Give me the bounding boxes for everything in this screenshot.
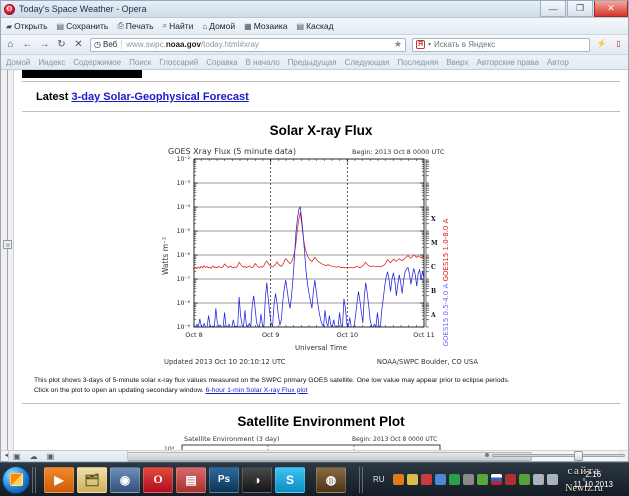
series-long <box>194 212 424 269</box>
tray-chat-icon[interactable] <box>449 474 460 485</box>
divider-under-latest <box>22 111 620 112</box>
navlink-top[interactable]: В начало <box>246 58 280 67</box>
bookmark-star-icon[interactable]: ★ <box>394 39 402 50</box>
panel-divider <box>7 70 8 461</box>
clock-small-icon: ◷ <box>94 40 101 49</box>
tray-folder-icon[interactable] <box>407 474 418 485</box>
chart-begin-label: Begin: 2013 Oct 8 0000 UTC <box>352 148 445 156</box>
toolbar-find[interactable]: ⌕ Найти <box>163 21 194 31</box>
url-domain: noaa.gov <box>166 40 201 49</box>
winamp-icon[interactable]: ◉ <box>110 467 140 493</box>
window-icon[interactable]: ▣ <box>13 452 21 461</box>
y-tick-label-5: 10⁻⁷ <box>177 276 191 283</box>
page-title: Solar X-ray Flux <box>22 123 620 138</box>
window-controls: — ❐ ✕ <box>539 1 628 18</box>
save-icon: ▤ <box>57 22 65 31</box>
stop-icon[interactable]: ✕ <box>73 39 84 50</box>
tray-note-icon[interactable] <box>393 474 404 485</box>
window-title: Today's Space Weather - Opera <box>19 4 147 14</box>
toolbar-cascade[interactable]: ▤ Каскад <box>297 21 334 31</box>
screen: O Today's Space Weather - Opera — ❐ ✕ ▰ … <box>0 0 629 496</box>
url-prefix: www.swpc. <box>126 40 166 49</box>
y-tick-label-1: 10⁻³ <box>177 180 191 187</box>
flare-class-A: A <box>430 312 436 319</box>
forward-icon[interactable]: → <box>39 39 50 50</box>
tray-brush-icon[interactable] <box>421 474 432 485</box>
winamp-glyph: ◉ <box>120 473 130 487</box>
print-icon: ⎙ <box>117 21 123 31</box>
tray-flag-icon[interactable] <box>491 474 502 485</box>
flare-class-M: M <box>431 240 438 247</box>
address-toolbar: ⌂ ← → ↻ ✕ ◷ Веб www.swpc.noaa.gov/today.… <box>1 35 628 55</box>
video-editor-glyph: ◍ <box>326 473 336 487</box>
address-bar[interactable]: ◷ Веб www.swpc.noaa.gov/today.html#xray … <box>90 38 406 52</box>
close-button[interactable]: ✕ <box>594 1 628 17</box>
tray-doc-icon[interactable] <box>505 474 516 485</box>
divider-under-blurb <box>22 403 620 404</box>
tray-volume-icon[interactable] <box>547 474 558 485</box>
main-toolbar: ▰ Открыть ▤ Сохранить ⎙ Печать ⌕ Найти ⌂… <box>1 18 628 35</box>
chart-plot-area: 10⁻²10⁻³10⁻⁴10⁻⁵10⁻⁶10⁻⁷10⁻⁸10⁻⁹Oct 8Oct… <box>177 156 438 339</box>
camera-app-glyph: ◑ <box>253 473 260 487</box>
home-nav-icon[interactable]: ⌂ <box>5 39 16 50</box>
toolbar-save[interactable]: ▤ Сохранить <box>57 21 109 31</box>
panel-icon[interactable]: ▯ <box>613 39 624 50</box>
volume-knob[interactable] <box>574 451 583 461</box>
window-titlebar: O Today's Space Weather - Opera — ❐ ✕ <box>1 1 628 18</box>
page-viewport: Latest 3-day Solar-Geophysical Forecast … <box>1 70 628 461</box>
skype-glyph: S <box>286 473 294 487</box>
top-black-banner-text <box>22 70 142 78</box>
navlink-author[interactable]: Автор <box>547 58 569 67</box>
camera-icon[interactable]: ▣ <box>47 452 55 461</box>
system-tray <box>393 474 558 485</box>
open-icon: ▰ <box>6 22 12 31</box>
x-tick-label-0: Oct 8 <box>185 331 202 339</box>
url-text: www.swpc.noaa.gov/today.html#xray <box>126 40 390 49</box>
chart2-begin-label: Begin: 2013 Oct 8 0000 UTC <box>352 436 437 443</box>
volume-min-dot <box>485 453 489 457</box>
y-tick-label-0: 10⁻² <box>177 156 191 163</box>
taskbar-left <box>0 466 38 494</box>
panel-strip <box>1 70 14 461</box>
cloud-icon[interactable]: ☁ <box>30 452 38 461</box>
navlink-glossary[interactable]: Глоссарий <box>159 58 198 67</box>
tray-monitor-icon[interactable] <box>435 474 446 485</box>
taskbar: ▶ 🗂 ◉ O ▤ Ps ◑ S <box>0 462 629 496</box>
floating-mini-toolbar: ▣ ☁ ▣ <box>8 450 128 462</box>
language-indicator[interactable]: RU <box>368 475 390 484</box>
blurb-line-2: Click on the plot to open an updating se… <box>34 387 204 394</box>
blurb-line-1: This plot shows 3-days of 5-minute solar… <box>34 377 510 384</box>
page-nav-links: Домой Индекс Содержимое Поиск Глоссарий … <box>1 55 628 70</box>
flare-class-B: B <box>431 288 436 295</box>
tray-shield-icon[interactable] <box>519 474 530 485</box>
chevron-down-icon[interactable]: ▾ <box>428 41 431 48</box>
volume-slider[interactable] <box>485 448 625 462</box>
clock-date: 11.10.2013 <box>558 480 629 490</box>
camera-app-icon[interactable]: ◑ <box>242 467 272 493</box>
web-chip-label: Веб <box>103 40 117 49</box>
navlink-search[interactable]: Поиск <box>129 58 151 67</box>
clock[interactable]: 2:16 11.10.2013 <box>558 470 629 490</box>
opera-browser-window: O Today's Space Weather - Opera — ❐ ✕ ▰ … <box>0 0 629 462</box>
toolbar-print-label: Печать <box>126 21 154 31</box>
chart-footer-right: NOAA/SWPC Boulder, CO USA <box>377 358 478 366</box>
navlink-contents[interactable]: Содержимое <box>73 58 121 67</box>
start-button[interactable] <box>2 466 30 494</box>
solar-xray-chart[interactable]: GOES Xray Flux (5 minute data) Begin: 20… <box>22 145 620 370</box>
chart-footer-left: Updated 2013 Oct 10 20:10:12 UTC <box>164 358 286 366</box>
forecast-link[interactable]: 3-day Solar-Geophysical Forecast <box>71 91 248 103</box>
legend-short-channel: GOES15 0.5-4.0 A <box>442 283 450 346</box>
opera-logo-icon: O <box>4 4 15 15</box>
chart-x-axis-label: Universal Time <box>295 344 347 352</box>
skype-icon[interactable]: S <box>275 467 305 493</box>
top-black-banner <box>22 70 142 78</box>
yandex-icon: Я <box>416 40 425 49</box>
tile-icon: ▦ <box>244 22 252 31</box>
page-content: Latest 3-day Solar-Geophysical Forecast … <box>14 70 628 461</box>
navlink-help[interactable]: Справка <box>206 58 237 67</box>
section2-title: Satellite Environment Plot <box>22 414 620 429</box>
navlink-index[interactable]: Индекс <box>38 58 65 67</box>
opera-glyph: O <box>153 472 162 487</box>
x-tick-label-2: Oct 10 <box>337 331 359 339</box>
find-icon: ⌕ <box>163 21 167 31</box>
maximize-button[interactable]: ❐ <box>567 1 593 17</box>
home-icon: ⌂ <box>202 22 207 31</box>
tray-grip[interactable] <box>359 467 365 493</box>
taskbar-grip[interactable] <box>32 467 38 493</box>
turbo-icon[interactable]: ⚡ <box>596 39 607 50</box>
navlink-last[interactable]: Последняя <box>397 58 438 67</box>
toolbar-save-label: Сохранить <box>66 21 108 31</box>
toolbar-open-label: Открыть <box>14 21 47 31</box>
toolbar-cascade-label: Каскад <box>306 21 334 31</box>
save-app-icon[interactable]: ▤ <box>176 467 206 493</box>
flare-class-C: C <box>431 264 436 271</box>
explorer-icon[interactable]: 🗂 <box>77 467 107 493</box>
solar-xray-chart-svg[interactable]: GOES Xray Flux (5 minute data) Begin: 20… <box>156 145 486 370</box>
chart2-header-title: Satellite Environment (3 day) <box>184 435 280 443</box>
chart-y-axis-label: Watts m⁻² <box>161 237 170 275</box>
navlink-next[interactable]: Следующая <box>345 58 390 67</box>
taskbar-items: ▶ 🗂 ◉ O ▤ Ps ◑ S <box>38 467 558 493</box>
url-suffix: /today.html#xray <box>201 40 259 49</box>
navlink-up[interactable]: Вверх <box>446 58 468 67</box>
toolbar-tile-label: Мозаика <box>254 21 288 31</box>
windows-flag-icon <box>10 473 23 486</box>
video-editor-icon[interactable]: ◍ <box>316 467 346 493</box>
search-box[interactable]: Я ▾ Искать в Яндекс <box>412 38 590 52</box>
x-tick-label-3: Oct 11 <box>413 331 435 339</box>
navlink-previous[interactable]: Предыдущая <box>288 58 337 67</box>
chart-description: This plot shows 3-days of 5-minute solar… <box>22 370 620 396</box>
tray-leaf-icon[interactable] <box>477 474 488 485</box>
toolbar-tile[interactable]: ▦ Мозаика <box>244 21 287 31</box>
chart-header-title: GOES Xray Flux (5 minute data) <box>168 147 296 156</box>
chart-frame <box>194 159 424 327</box>
navlink-home[interactable]: Домой <box>6 58 30 67</box>
flare-class-X: X <box>431 216 436 223</box>
toolbar-open[interactable]: ▰ Открыть <box>6 21 48 31</box>
search-input[interactable]: Искать в Яндекс <box>434 40 495 49</box>
tray-globe-icon[interactable] <box>463 474 474 485</box>
back-icon[interactable]: ← <box>22 39 33 50</box>
toolbar-print[interactable]: ⎙ Печать <box>117 21 153 31</box>
toolbar-find-label: Найти <box>169 21 193 31</box>
y-tick-label-2: 10⁻⁴ <box>177 204 191 211</box>
y-tick-label-4: 10⁻⁶ <box>177 252 191 259</box>
toolbar-home-label: Домой <box>209 21 235 31</box>
explorer-glyph: 🗂 <box>84 473 99 487</box>
y-tick-label-3: 10⁻⁵ <box>177 228 191 235</box>
volume-track[interactable] <box>492 454 625 457</box>
latest-prefix: Latest <box>36 91 68 103</box>
minimize-button[interactable]: — <box>540 1 566 17</box>
save-app-glyph: ▤ <box>185 473 196 487</box>
y-tick-label-6: 10⁻⁸ <box>177 300 191 307</box>
clock-time: 2:16 <box>558 470 629 480</box>
photoshop-glyph: Ps <box>218 474 230 485</box>
cascade-icon: ▤ <box>297 22 305 31</box>
opera-taskbar-icon[interactable]: O <box>143 467 173 493</box>
web-chip[interactable]: ◷ Веб <box>94 40 122 49</box>
panel-toggle-handle[interactable] <box>3 240 12 249</box>
latest-forecast-line: Latest 3-day Solar-Geophysical Forecast <box>22 82 620 111</box>
reload-icon[interactable]: ↻ <box>56 39 67 50</box>
navlink-copyright[interactable]: Авторские права <box>477 58 539 67</box>
tray-network-icon[interactable] <box>533 474 544 485</box>
legend-long-channel: GOES15 1.0-8.0 A <box>442 218 450 281</box>
sixhour-plot-link[interactable]: 6-hour 1-min Solar X-ray Flux plot <box>206 387 308 394</box>
media-player-glyph: ▶ <box>54 473 63 487</box>
x-tick-label-1: Oct 9 <box>262 331 279 339</box>
photoshop-icon[interactable]: Ps <box>209 467 239 493</box>
media-player-icon[interactable]: ▶ <box>44 467 74 493</box>
toolbar-home[interactable]: ⌂ Домой <box>202 21 235 31</box>
